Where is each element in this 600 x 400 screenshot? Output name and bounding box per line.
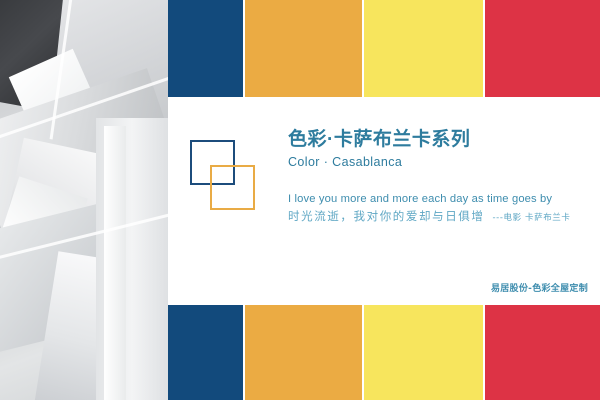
color-band-yellow-bottom bbox=[364, 305, 483, 400]
color-band-red-top bbox=[485, 0, 600, 97]
color-band-blue-top bbox=[168, 0, 243, 97]
color-band-yellow-top bbox=[364, 0, 483, 97]
photo-door-panel bbox=[104, 126, 126, 400]
content-panel: 色彩·卡萨布兰卡系列 Color · Casablanca I love you… bbox=[168, 97, 600, 305]
slide-title: 色彩·卡萨布兰卡系列 bbox=[288, 129, 588, 152]
text-block: 色彩·卡萨布兰卡系列 Color · Casablanca I love you… bbox=[288, 129, 588, 224]
decorative-photo bbox=[0, 0, 168, 400]
slide-subtitle: Color · Casablanca bbox=[288, 155, 588, 169]
brand-tagline: 易居股份-色彩全屋定制 bbox=[491, 281, 588, 294]
color-band-blue-bottom bbox=[168, 305, 243, 400]
color-band-orange-bottom bbox=[245, 305, 362, 400]
color-band-red-bottom bbox=[485, 305, 600, 400]
quote-english: I love you more and more each day as tim… bbox=[288, 193, 588, 205]
quote-chinese: 时光流逝，我对你的爱却与日俱增 bbox=[288, 208, 485, 224]
color-band-orange-top bbox=[245, 0, 362, 97]
quote-source: ---电影 卡萨布兰卡 bbox=[493, 211, 571, 223]
presentation-slide: 色彩·卡萨布兰卡系列 Color · Casablanca I love you… bbox=[0, 0, 600, 400]
quote-chinese-row: 时光流逝，我对你的爱却与日俱增 ---电影 卡萨布兰卡 bbox=[288, 208, 588, 224]
orange-square-icon bbox=[210, 165, 255, 210]
logo-squares-mark bbox=[190, 140, 280, 230]
